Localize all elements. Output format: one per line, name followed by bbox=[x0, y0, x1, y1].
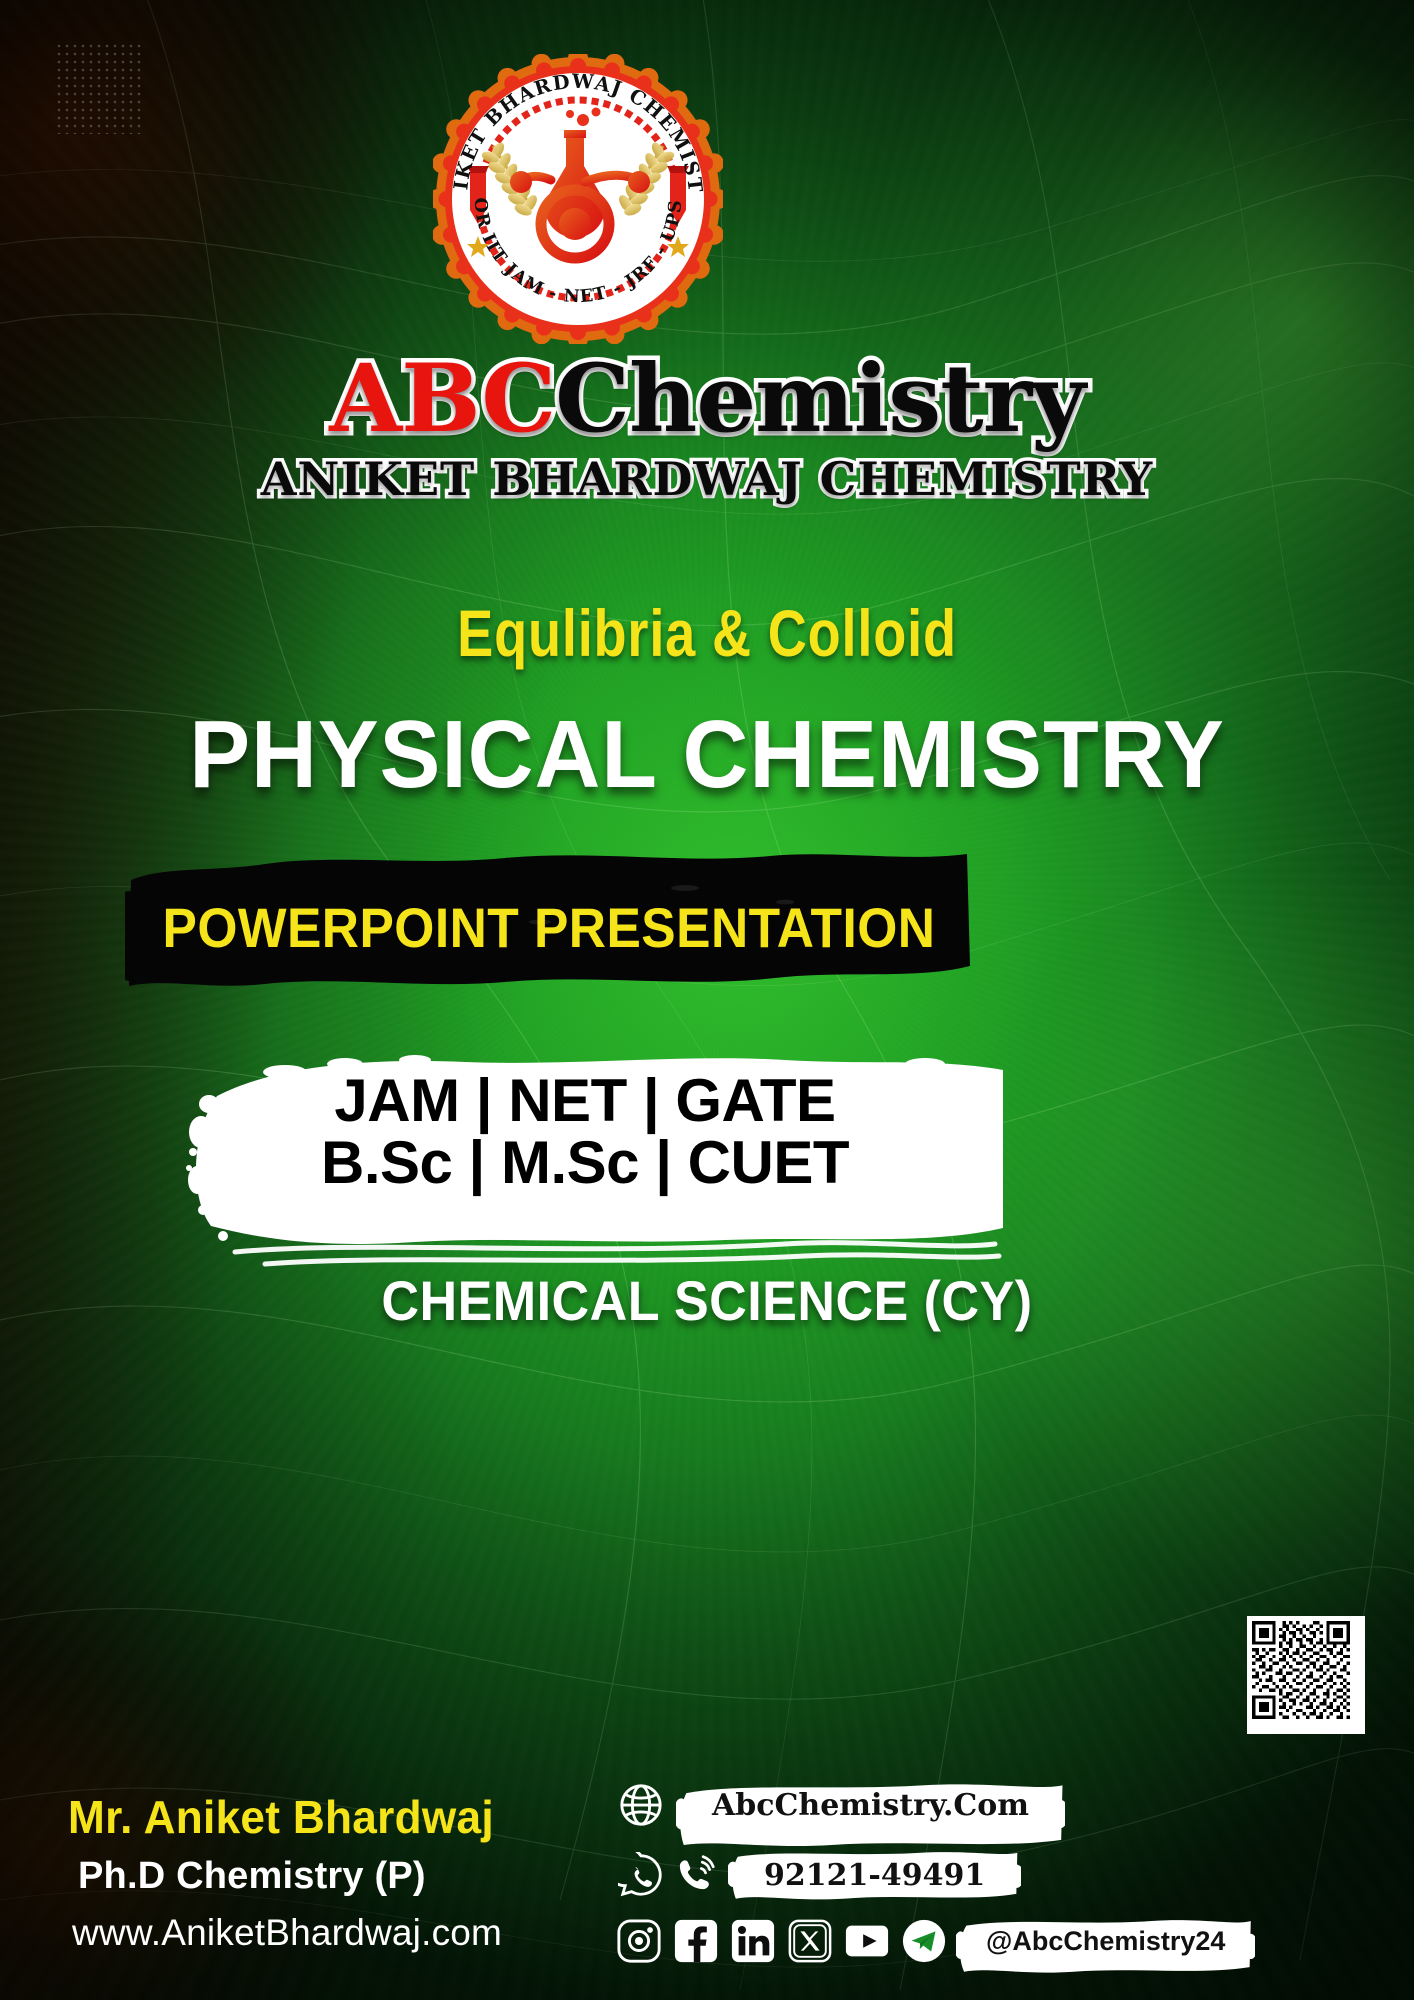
telegram-icon[interactable] bbox=[901, 1918, 947, 1964]
x-twitter-icon[interactable] bbox=[787, 1918, 833, 1964]
phone-tag[interactable]: 92121-49491 bbox=[738, 1852, 1011, 1898]
author-website: www.AniketBhardwaj.com bbox=[72, 1912, 502, 1954]
page-title: PHYSICAL CHEMISTRY bbox=[35, 700, 1378, 810]
background-dot-grid bbox=[55, 42, 141, 134]
exam-list: JAM | NET | GATE B.Sc | M.Sc | CUET bbox=[165, 1070, 1005, 1194]
wordmark-chemistry: Chemistry bbox=[555, 344, 1085, 454]
author-name: Mr. Aniket Bhardwaj bbox=[68, 1790, 494, 1844]
globe-icon bbox=[618, 1782, 664, 1828]
whatsapp-icon bbox=[618, 1852, 664, 1898]
chemical-science-label: CHEMICAL SCIENCE (CY) bbox=[49, 1268, 1364, 1333]
exam-row-1: JAM | NET | GATE bbox=[165, 1070, 1005, 1132]
author-degree: Ph.D Chemistry (P) bbox=[78, 1855, 426, 1898]
wordmark-line1: ABCChemistry bbox=[0, 352, 1414, 446]
contact-website-row: AbcChemistry.Com bbox=[618, 1782, 1055, 1828]
website-text: AbcChemistry.Com bbox=[712, 1788, 1029, 1823]
wordmark-subtitle: ANIKET BHARDWAJ CHEMISTRY bbox=[0, 452, 1414, 506]
social-links: @AbcChemistry24 bbox=[616, 1918, 1245, 1964]
facebook-icon[interactable] bbox=[673, 1918, 719, 1964]
exam-row-2: B.Sc | M.Sc | CUET bbox=[165, 1132, 1005, 1194]
linkedin-icon[interactable] bbox=[730, 1918, 776, 1964]
wordmark-abc: ABC bbox=[329, 344, 555, 454]
social-handle-text: @AbcChemistry24 bbox=[986, 1926, 1225, 1957]
instagram-icon[interactable] bbox=[616, 1918, 662, 1964]
phone-text: 92121-49491 bbox=[764, 1858, 985, 1893]
youtube-icon[interactable] bbox=[844, 1918, 890, 1964]
website-tag[interactable]: AbcChemistry.Com bbox=[686, 1782, 1055, 1828]
subject-topic-title: Equlibria & Colloid bbox=[127, 595, 1286, 671]
brand-seal-logo: ANIKET BHARDWAJ CHEMISTRY FOR IIT JAM - … bbox=[433, 54, 723, 344]
presentation-format-label: POWERPOINT PRESENTATION bbox=[159, 895, 939, 960]
phone-call-icon bbox=[672, 1853, 716, 1897]
qr-code-image bbox=[1252, 1621, 1350, 1719]
qr-code[interactable] bbox=[1247, 1616, 1365, 1734]
poster-canvas: ANIKET BHARDWAJ CHEMISTRY FOR IIT JAM - … bbox=[0, 0, 1414, 2000]
contact-phone-row: 92121-49491 bbox=[618, 1852, 1011, 1898]
brand-wordmark: ABCChemistry ANIKET BHARDWAJ CHEMISTRY bbox=[0, 352, 1414, 506]
social-handle-tag[interactable]: @AbcChemistry24 bbox=[966, 1919, 1245, 1963]
